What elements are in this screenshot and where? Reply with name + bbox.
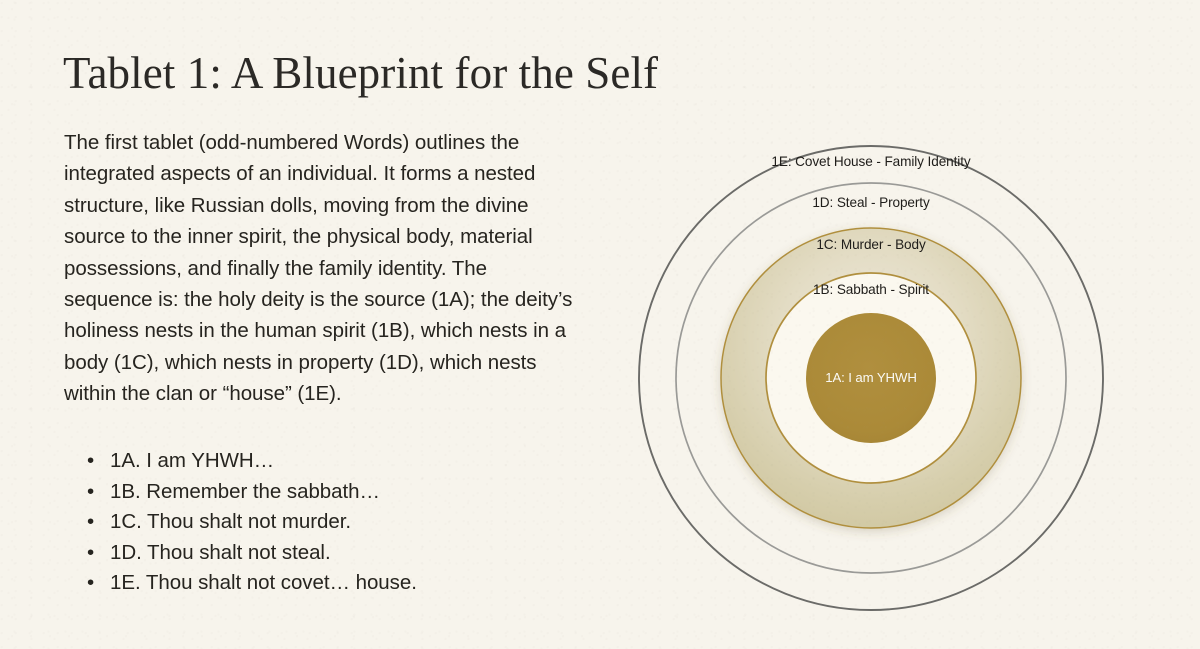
list-item-label: 1B. Remember the sabbath…: [110, 480, 380, 503]
body-paragraph: The first tablet (odd-numbered Words) ou…: [64, 127, 579, 410]
list-item: • 1B. Remember the sabbath…: [84, 477, 584, 508]
slide-canvas: Tablet 1: A Blueprint for the Self The f…: [0, 0, 1200, 649]
ring-1b-label: 1B: Sabbath - Spirit: [813, 282, 929, 297]
list-item-label: 1E. Thou shalt not covet… house.: [110, 571, 417, 594]
ring-1d-label: 1D: Steal - Property: [812, 195, 930, 210]
ring-1e-label: 1E: Covet House - Family Identity: [771, 154, 970, 169]
bullet-icon: •: [87, 477, 94, 508]
page-title: Tablet 1: A Blueprint for the Self: [63, 47, 658, 99]
list-item-label: 1A. I am YHWH…: [110, 449, 274, 472]
ring-1c-label: 1C: Murder - Body: [816, 237, 926, 252]
bullet-icon: •: [87, 538, 94, 569]
ring-1a-label: 1A: I am YHWH: [825, 370, 917, 385]
list-item: • 1E. Thou shalt not covet… house.: [84, 568, 584, 599]
commandment-list: • 1A. I am YHWH… • 1B. Remember the sabb…: [84, 446, 584, 599]
list-item-label: 1C. Thou shalt not murder.: [110, 510, 351, 533]
bullet-icon: •: [87, 568, 94, 599]
list-item: • 1A. I am YHWH…: [84, 446, 584, 477]
list-item: • 1D. Thou shalt not steal.: [84, 538, 584, 569]
list-item-label: 1D. Thou shalt not steal.: [110, 541, 331, 564]
nested-circles-diagram: 1E: Covet House - Family Identity 1D: St…: [600, 120, 1145, 630]
bullet-icon: •: [87, 446, 94, 477]
list-item: • 1C. Thou shalt not murder.: [84, 507, 584, 538]
bullet-icon: •: [87, 507, 94, 538]
text-column: The first tablet (odd-numbered Words) ou…: [64, 127, 579, 410]
